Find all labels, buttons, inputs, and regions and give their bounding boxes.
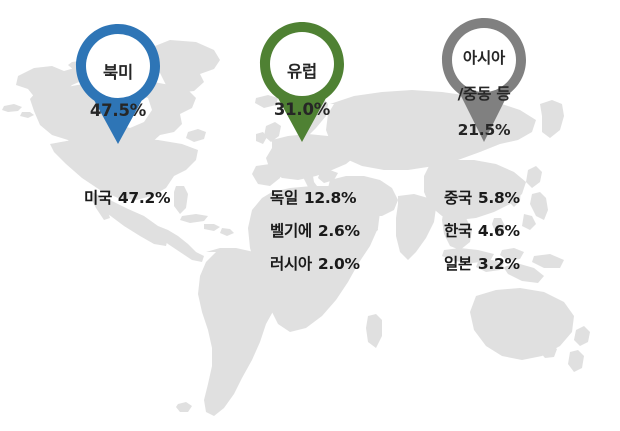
pin-region-name-line1: 아시아 [436, 50, 532, 68]
list-item: 한국4.6% [444, 215, 520, 248]
country-list-asia: 중국5.8% 한국4.6% 일본3.2% [444, 182, 520, 281]
country-name: 일본 [444, 255, 472, 273]
country-share: 2.0% [318, 255, 360, 273]
pin-region-value: 21.5% [436, 122, 532, 140]
world-share-map-infographic: 북미 47.5% 유럽 31.0% 아시아 /중동 등 21.5% 미국47.2… [0, 0, 620, 431]
country-share: 4.6% [478, 222, 520, 240]
pin-region-name-line2: /중동 등 [436, 86, 532, 104]
country-share: 3.2% [478, 255, 520, 273]
country-list-north-america: 미국47.2% [84, 182, 170, 215]
country-list-europe: 독일12.8% 벨기에2.6% 러시아2.0% [270, 182, 360, 281]
list-item: 일본3.2% [444, 248, 520, 281]
country-share: 47.2% [118, 189, 170, 207]
country-name: 러시아 [270, 255, 312, 273]
country-share: 5.8% [478, 189, 520, 207]
map-pin-asia-middle-east-label: 아시아 /중동 등 21.5% [436, 32, 532, 158]
list-item: 독일12.8% [270, 182, 360, 215]
list-item: 중국5.8% [444, 182, 520, 215]
country-name: 중국 [444, 189, 472, 207]
map-pin-europe-label: 유럽 31.0% [254, 43, 350, 139]
list-item: 벨기에2.6% [270, 215, 360, 248]
country-name: 한국 [444, 222, 472, 240]
list-item: 러시아2.0% [270, 248, 360, 281]
pin-region-name: 유럽 [254, 62, 350, 81]
list-item: 미국47.2% [84, 182, 170, 215]
country-name: 벨기에 [270, 222, 312, 240]
country-name: 미국 [84, 189, 112, 207]
pin-region-name: 북미 [70, 63, 166, 82]
map-pin-north-america-label: 북미 47.5% [70, 44, 166, 140]
country-share: 12.8% [304, 189, 356, 207]
pin-region-value: 47.5% [70, 101, 166, 120]
pin-region-value: 31.0% [254, 100, 350, 119]
country-share: 2.6% [318, 222, 360, 240]
country-name: 독일 [270, 189, 298, 207]
